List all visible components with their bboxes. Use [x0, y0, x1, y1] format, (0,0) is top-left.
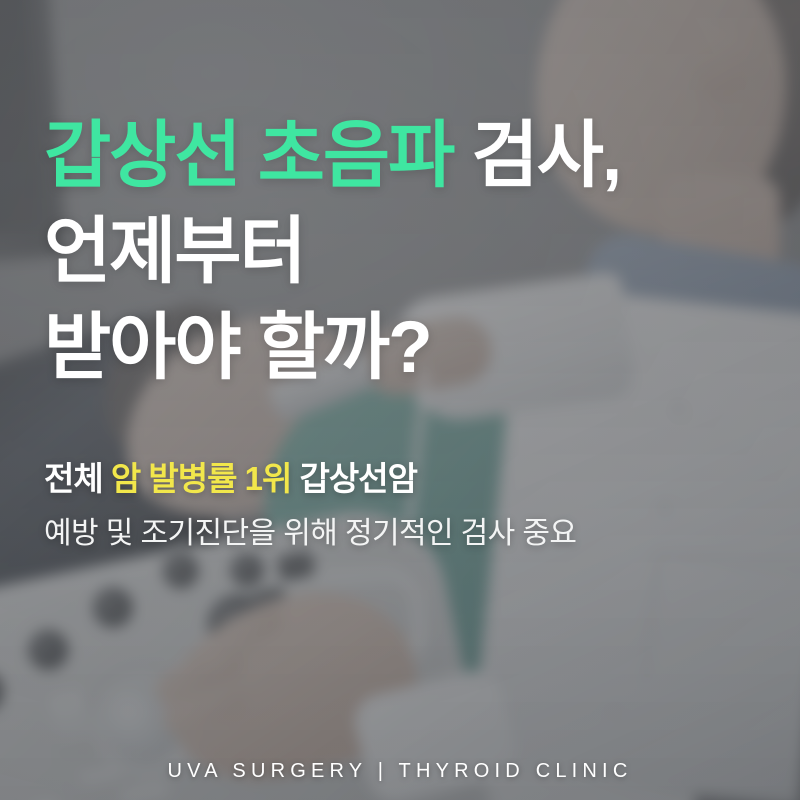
poster-content: 갑상선 초음파 검사, 언제부터 받아야 할까? 전체 암 발병률 1위 갑상선…: [0, 0, 800, 800]
poster-card: 갑상선 초음파 검사, 언제부터 받아야 할까? 전체 암 발병률 1위 갑상선…: [0, 0, 800, 800]
headline-line-3: 받아야 할까?: [44, 300, 784, 396]
subtitle-line-2: 예방 및 조기진단을 위해 정기적인 검사 중요: [44, 508, 576, 552]
subtitle-line-1: 전체 암 발병률 1위 갑상선암: [44, 452, 417, 500]
headline-line-2: 언제부터: [44, 204, 784, 300]
headline-line-1: 갑상선 초음파 검사,: [44, 108, 784, 204]
subtitle-prefix: 전체: [44, 460, 111, 497]
subtitle-accent-text: 암 발병률 1위: [111, 460, 292, 497]
footer-branding: UVA SURGERY | THYROID CLINIC: [0, 760, 800, 783]
subtitle-suffix: 갑상선암: [291, 460, 417, 497]
headline-line-1-rest: 검사,: [453, 115, 620, 196]
headline-accent-text: 갑상선 초음파: [44, 115, 453, 196]
headline-block: 갑상선 초음파 검사, 언제부터 받아야 할까?: [44, 108, 784, 396]
